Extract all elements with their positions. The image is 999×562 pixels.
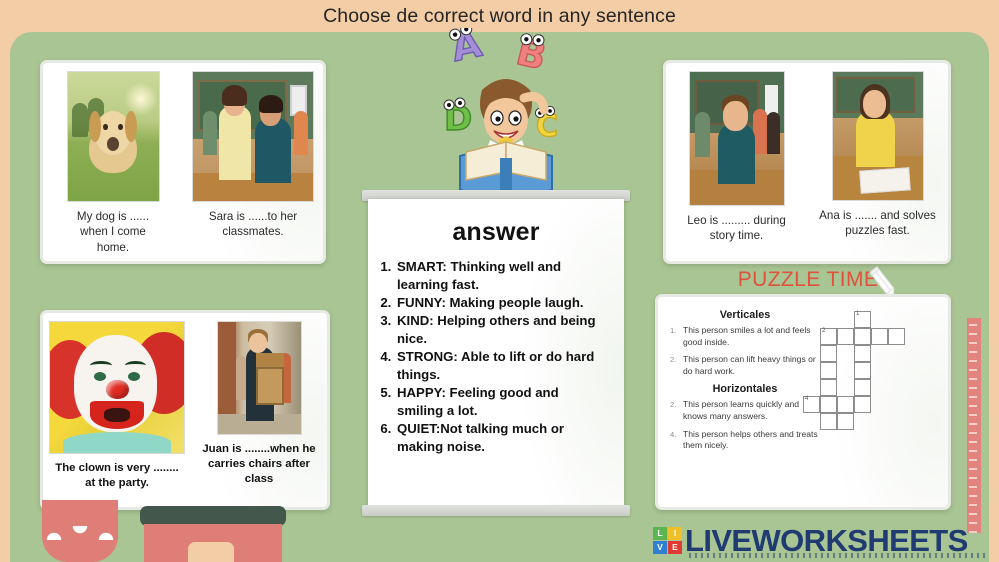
logo-strip-dash (815, 553, 817, 558)
sentence-item[interactable]: Leo is ......... during story time. (666, 63, 807, 261)
clue-number: 4. (670, 429, 683, 452)
logo-strip-dash (905, 553, 907, 558)
logo-strip-dash (851, 553, 853, 558)
logo-strip-dash (923, 553, 925, 558)
ruler-tick (969, 333, 977, 335)
ruler-decoration (967, 318, 981, 533)
crossword-cell[interactable] (854, 328, 871, 345)
logo-color-blocks: LIVE (653, 527, 683, 555)
crossword-clues: Verticales 1. This person smiles a lot a… (670, 309, 820, 458)
logo-strip-dash (737, 553, 739, 558)
ruler-tick (969, 486, 977, 488)
clue-number: 2. (670, 399, 683, 422)
crossword-cell[interactable] (820, 345, 837, 362)
pencil-cup-decoration (42, 500, 118, 562)
liveworksheets-logo[interactable]: LIVE LIVEWORKSHEETS (653, 523, 993, 559)
logo-strip-dash (779, 553, 781, 558)
sentence-item[interactable]: Sara is ......to her classmates. (183, 63, 323, 261)
sentence-item[interactable]: Juan is ........when he carries chairs a… (191, 313, 327, 507)
logo-strip-dash (809, 553, 811, 558)
whiteboard-bottom-rail (362, 505, 630, 516)
ruler-tick (969, 450, 977, 452)
logo-strip (689, 553, 989, 558)
logo-strip-dash (725, 553, 727, 558)
logo-strip-dash (911, 553, 913, 558)
logo-strip-dash (977, 553, 979, 558)
logo-strip-dash (845, 553, 847, 558)
crossword-section-heading: Verticales (670, 309, 820, 321)
sentence-caption: Sara is ......to her classmates. (192, 209, 314, 240)
logo-block-l: L (653, 527, 667, 540)
ruler-tick (969, 324, 977, 326)
crossword-cell[interactable] (837, 328, 854, 345)
ruler-tick (969, 414, 977, 416)
ruler-tick (969, 405, 977, 407)
girl-solving-puzzle-photo (832, 71, 924, 201)
logo-strip-dash (983, 553, 985, 558)
sentence-caption: The clown is very ........ at the party. (49, 461, 185, 491)
sentence-caption: My dog is ...... when I come home. (65, 209, 161, 255)
answer-item: SMART: Thinking well and learning fast. (395, 258, 608, 294)
logo-strip-dash (791, 553, 793, 558)
ruler-tick (969, 360, 977, 362)
clue-item: 2. This person learns quickly and knows … (670, 399, 820, 422)
crossword-cell[interactable]: 2 (820, 328, 837, 345)
logo-strip-dash (941, 553, 943, 558)
logo-strip-dash (953, 553, 955, 558)
answer-whiteboard: answer SMART: Thinking well and learning… (362, 190, 630, 516)
ruler-tick (969, 342, 977, 344)
logo-strip-dash (761, 553, 763, 558)
crossword-cell-number: 1 (856, 311, 859, 317)
ruler-tick (969, 504, 977, 506)
logo-strip-dash (899, 553, 901, 558)
logo-strip-dash (863, 553, 865, 558)
ruler-tick (969, 513, 977, 515)
clue-number: 1. (670, 325, 683, 348)
logo-strip-dash (917, 553, 919, 558)
running-dog-photo (67, 71, 160, 202)
logo-strip-dash (713, 553, 715, 558)
logo-strip-dash (803, 553, 805, 558)
logo-block-i: I (668, 527, 682, 540)
crossword-cell[interactable] (837, 413, 854, 430)
logo-strip-dash (827, 553, 829, 558)
sentence-card-3: Leo is ......... during story time. Ana … (663, 60, 951, 264)
logo-strip-dash (821, 553, 823, 558)
logo-strip-dash (755, 553, 757, 558)
crossword-cell[interactable] (820, 413, 837, 430)
boy-reading-book-illustration: A B D C (420, 28, 592, 198)
sentence-card-1: My dog is ...... when I come home. Sara … (40, 60, 326, 264)
ruler-tick (969, 369, 977, 371)
horizontales-clue-list: 2. This person learns quickly and knows … (670, 399, 820, 451)
logo-strip-dash (719, 553, 721, 558)
girl-helping-boy-classroom-photo (192, 71, 314, 202)
clown-face-photo (49, 321, 185, 454)
logo-strip-dash (893, 553, 895, 558)
logo-strip-dash (797, 553, 799, 558)
crossword-cell[interactable]: 1 (854, 311, 871, 328)
logo-strip-dash (731, 553, 733, 558)
ruler-tick (969, 387, 977, 389)
logo-strip-dash (881, 553, 883, 558)
crossword-grid[interactable]: 124 (803, 311, 951, 461)
ruler-tick (969, 477, 977, 479)
crossword-cell[interactable] (854, 345, 871, 362)
logo-strip-dash (749, 553, 751, 558)
crossword-cell-number: 4 (805, 396, 808, 402)
ruler-tick (969, 378, 977, 380)
crossword-cell[interactable] (820, 379, 837, 396)
logo-strip-dash (887, 553, 889, 558)
boy-carrying-chair-photo (217, 321, 302, 435)
logo-strip-dash (701, 553, 703, 558)
sentence-caption: Juan is ........when he carries chairs a… (200, 442, 318, 487)
desk-decoration (140, 506, 286, 562)
crossword-cell[interactable] (854, 362, 871, 379)
logo-strip-dash (965, 553, 967, 558)
whiteboard-surface: answer SMART: Thinking well and learning… (368, 199, 624, 507)
logo-strip-dash (875, 553, 877, 558)
clue-item: 2. This person can lift heavy things or … (670, 354, 820, 377)
logo-strip-dash (785, 553, 787, 558)
answer-item: HAPPY: Feeling good and smiling a lot. (395, 384, 608, 420)
answer-item: FUNNY: Making people laugh. (395, 294, 608, 312)
crossword-cell[interactable] (888, 328, 905, 345)
logo-strip-dash (935, 553, 937, 558)
logo-strip-dash (707, 553, 709, 558)
clue-item: 1. This person smiles a lot and feels go… (670, 325, 820, 348)
ruler-tick (969, 495, 977, 497)
crossword-section-heading: Horizontales (670, 383, 820, 395)
crossword-cell[interactable] (871, 328, 888, 345)
clue-number: 2. (670, 354, 683, 377)
sentence-item[interactable]: My dog is ...... when I come home. (43, 63, 183, 261)
sentence-card-2: The clown is very ........ at the party.… (40, 310, 330, 510)
logo-strip-dash (743, 553, 745, 558)
sentence-caption: Ana is ....... and solves puzzles fast. (818, 208, 938, 239)
crossword-cell-number: 2 (822, 328, 825, 334)
answer-item: KIND: Helping others and being nice. (395, 312, 608, 348)
ruler-tick (969, 468, 977, 470)
clue-text: This person can lift heavy things or do … (683, 354, 820, 377)
logo-strip-dash (839, 553, 841, 558)
crossword-cell[interactable] (820, 396, 837, 413)
logo-strip-dash (857, 553, 859, 558)
crossword-cell[interactable]: 4 (803, 396, 820, 413)
ruler-tick (969, 432, 977, 434)
logo-strip-dash (695, 553, 697, 558)
logo-strip-dash (773, 553, 775, 558)
ruler-tick (969, 441, 977, 443)
clue-item: 4. This person helps others and treats t… (670, 429, 820, 452)
crossword-cell[interactable] (854, 379, 871, 396)
ruler-tick (969, 396, 977, 398)
logo-strip-dash (971, 553, 973, 558)
clue-text: This person helps others and treats them… (683, 429, 820, 452)
answer-title: answer (368, 218, 624, 247)
ruler-tick (969, 423, 977, 425)
logo-strip-dash (947, 553, 949, 558)
logo-strip-dash (869, 553, 871, 558)
verticales-clue-list: 1. This person smiles a lot and feels go… (670, 325, 820, 377)
crossword-cell[interactable] (837, 396, 854, 413)
logo-strip-dash (689, 553, 691, 558)
crossword-card: Verticales 1. This person smiles a lot a… (655, 294, 951, 510)
answer-item: STRONG: Able to lift or do hard things. (395, 348, 608, 384)
logo-strip-dash (833, 553, 835, 558)
sentence-caption: Leo is ......... during story time. (681, 213, 793, 244)
crossword-cell[interactable] (854, 396, 871, 413)
answer-list: SMART: Thinking well and learning fast. … (395, 258, 608, 455)
boy-listening-story-time-photo (689, 71, 785, 206)
logo-strip-dash (929, 553, 931, 558)
answer-item: QUIET:Not talking much or making noise. (395, 420, 608, 456)
logo-block-v: V (653, 541, 667, 554)
sentence-item[interactable]: The clown is very ........ at the party. (43, 313, 191, 507)
ruler-tick (969, 459, 977, 461)
clue-text: This person smiles a lot and feels good … (683, 325, 820, 348)
logo-block-e: E (668, 541, 682, 554)
ruler-tick (969, 351, 977, 353)
logo-strip-dash (959, 553, 961, 558)
pencil-icon (868, 262, 910, 296)
sentence-item[interactable]: Ana is ....... and solves puzzles fast. (807, 63, 948, 261)
logo-strip-dash (767, 553, 769, 558)
crossword-cell[interactable] (820, 362, 837, 379)
clue-text: This person learns quickly and knows man… (683, 399, 820, 422)
